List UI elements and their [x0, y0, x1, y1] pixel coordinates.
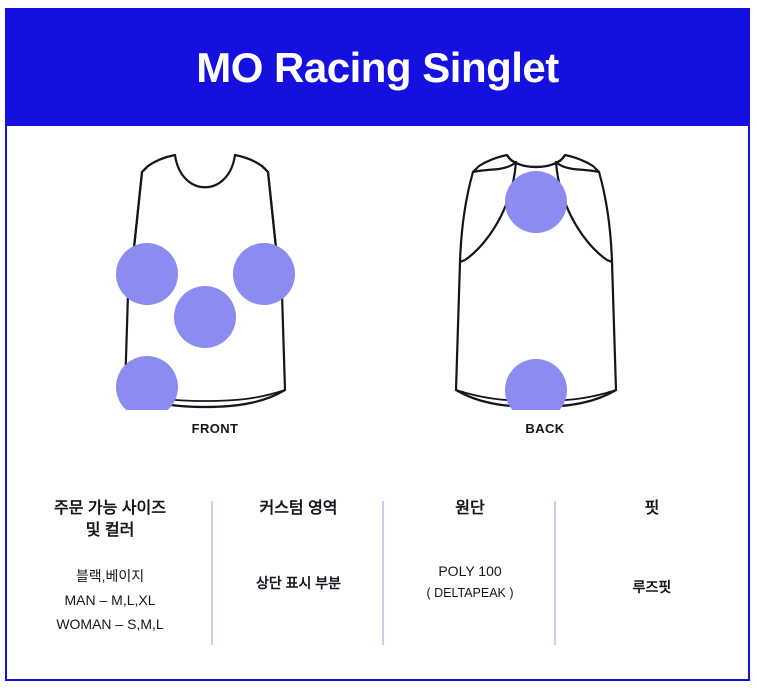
spec-body-fit: 루즈핏: [556, 576, 748, 600]
chest-right-marker: [233, 243, 295, 305]
spec-line: 블랙,베이지: [7, 565, 213, 589]
singlet-front-illustration: [65, 140, 365, 410]
front-view-label: FRONT: [65, 421, 365, 436]
spec-body-size-and-color: 블랙,베이지 MAN – M,L,XL WOMAN – S,M,L: [7, 565, 213, 636]
spec-line: ( DELTAPEAK ): [384, 583, 556, 604]
spec-body-custom-area: 상단 표시 부분: [213, 572, 384, 596]
spec-line: POLY 100: [384, 560, 556, 584]
spec-table: 주문 가능 사이즈 및 컬러 블랙,베이지 MAN – M,L,XL WOMAN…: [7, 456, 748, 681]
chest-left-marker: [116, 243, 178, 305]
spec-column-fabric: 원단 POLY 100 ( DELTAPEAK ): [384, 456, 556, 681]
upper-back-marker: [505, 171, 567, 233]
center-marker: [174, 286, 236, 348]
product-spec-sheet: MO Racing Singlet: [0, 0, 757, 688]
spec-header-size-and-color: 주문 가능 사이즈 및 컬러: [7, 498, 213, 541]
header-banner: MO Racing Singlet: [7, 10, 748, 126]
back-view-label: BACK: [395, 421, 695, 436]
spec-header-fabric: 원단: [384, 498, 556, 520]
back-view-block: BACK: [395, 126, 695, 456]
spec-line: MAN – M,L,XL: [7, 589, 213, 613]
garment-illustration-area: FRONT: [7, 126, 748, 456]
spec-column-size-and-color: 주문 가능 사이즈 및 컬러 블랙,베이지 MAN – M,L,XL WOMAN…: [7, 456, 213, 681]
spec-line: 루즈핏: [556, 576, 748, 600]
spec-body-fabric: POLY 100 ( DELTAPEAK ): [384, 560, 556, 605]
page-title: MO Racing Singlet: [196, 47, 559, 89]
spec-column-custom-area: 커스텀 영역 상단 표시 부분: [213, 456, 384, 681]
spec-line: 상단 표시 부분: [213, 572, 384, 596]
singlet-back-illustration: [395, 140, 695, 410]
spec-column-fit: 핏 루즈핏: [556, 456, 748, 681]
sheet-card: MO Racing Singlet: [5, 8, 750, 681]
front-view-block: FRONT: [65, 126, 365, 456]
spec-header-fit: 핏: [556, 498, 748, 520]
spec-line: WOMAN – S,M,L: [7, 613, 213, 637]
spec-header-custom-area: 커스텀 영역: [213, 498, 384, 520]
